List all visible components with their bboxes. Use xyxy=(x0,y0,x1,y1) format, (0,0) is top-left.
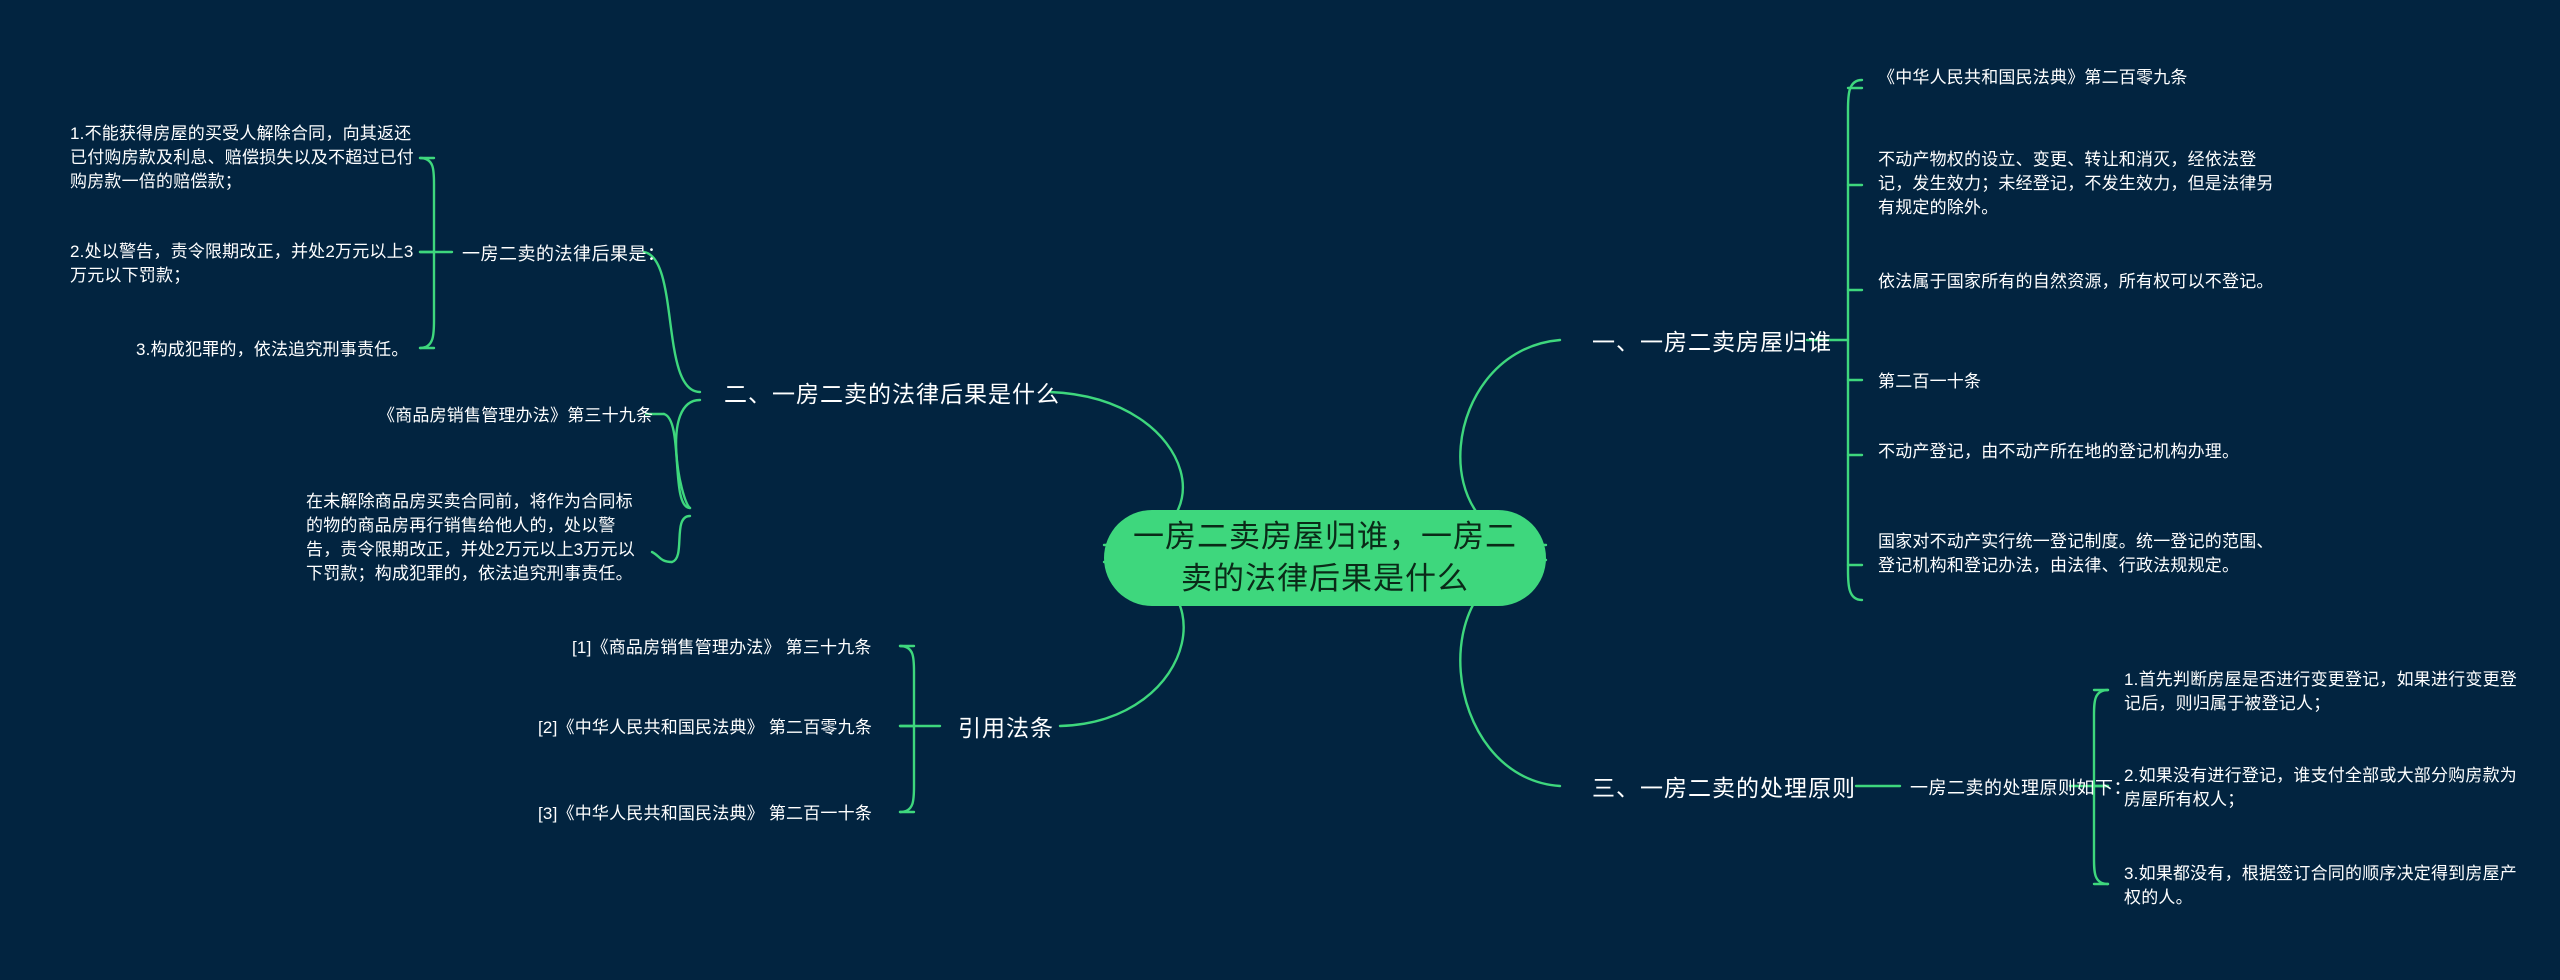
root-label: 一房二卖房屋归谁，一房二卖的法律后果是什么 xyxy=(1130,516,1520,599)
reference-item-1[interactable]: [1]《商品房销售管理办法》 第三十九条 xyxy=(572,636,872,660)
branch-left-top-sublabel[interactable]: 一房二卖的法律后果是： xyxy=(462,242,666,268)
branch-left-top-label[interactable]: 二、一房二卖的法律后果是什么 xyxy=(724,378,1060,411)
leaf-principle-3[interactable]: 3.如果都没有，根据签订合同的顺序决定得到房屋产权的人。 xyxy=(2124,862,2524,910)
leaf-consequence-3[interactable]: 3.构成犯罪的，依法追究刑事责任。 xyxy=(136,338,426,362)
leaf-registration-authority-text[interactable]: 不动产登记，由不动产所在地的登记机构办理。 xyxy=(1878,440,2278,464)
leaf-civil-code-210-title[interactable]: 第二百一十条 xyxy=(1878,370,2278,394)
leaf-unified-registration-text[interactable]: 国家对不动产实行统一登记制度。统一登记的范围、登记机构和登记办法，由法律、行政法… xyxy=(1878,530,2278,578)
mindmap-canvas: 一房二卖房屋归谁，一房二卖的法律后果是什么 一、一房二卖房屋归谁 《中华人民共和… xyxy=(0,0,2560,980)
branch-right-top-label[interactable]: 一、一房二卖房屋归谁 xyxy=(1592,326,1832,359)
branch-right-bottom-sublabel[interactable]: 一房二卖的处理原则如下： xyxy=(1910,776,2132,802)
root-node[interactable]: 一房二卖房屋归谁，一房二卖的法律后果是什么 xyxy=(1104,510,1546,606)
leaf-civil-code-209-title[interactable]: 《中华人民共和国民法典》第二百零九条 xyxy=(1878,66,2278,90)
leaf-natural-resources-text[interactable]: 依法属于国家所有的自然资源，所有权可以不登记。 xyxy=(1878,270,2278,294)
reference-item-3[interactable]: [3]《中华人民共和国民法典》 第二百一十条 xyxy=(538,802,872,826)
leaf-civil-code-209-text[interactable]: 不动产物权的设立、变更、转让和消灭，经依法登记，发生效力；未经登记，不发生效力，… xyxy=(1878,148,2278,220)
leaf-statute-title[interactable]: 《商品房销售管理办法》第三十九条 xyxy=(378,404,653,428)
leaf-statute-text[interactable]: 在未解除商品房买卖合同前，将作为合同标的物的商品房再行销售给他人的，处以警告，责… xyxy=(306,490,646,587)
leaf-consequence-2[interactable]: 2.处以警告，责令限期改正，并处2万元以上3万元以下罚款； xyxy=(70,240,420,288)
branch-right-bottom-label[interactable]: 三、一房二卖的处理原则 xyxy=(1592,772,1856,805)
branch-left-bottom-label[interactable]: 引用法条 xyxy=(958,712,1054,745)
leaf-consequence-1[interactable]: 1.不能获得房屋的买受人解除合同，向其返还已付购房款及利息、赔偿损失以及不超过已… xyxy=(70,122,420,194)
reference-item-2[interactable]: [2]《中华人民共和国民法典》 第二百零九条 xyxy=(538,716,872,740)
leaf-principle-2[interactable]: 2.如果没有进行登记，谁支付全部或大部分购房款为房屋所有权人； xyxy=(2124,764,2524,812)
leaf-principle-1[interactable]: 1.首先判断房屋是否进行变更登记，如果进行变更登记后，则归属于被登记人； xyxy=(2124,668,2524,716)
